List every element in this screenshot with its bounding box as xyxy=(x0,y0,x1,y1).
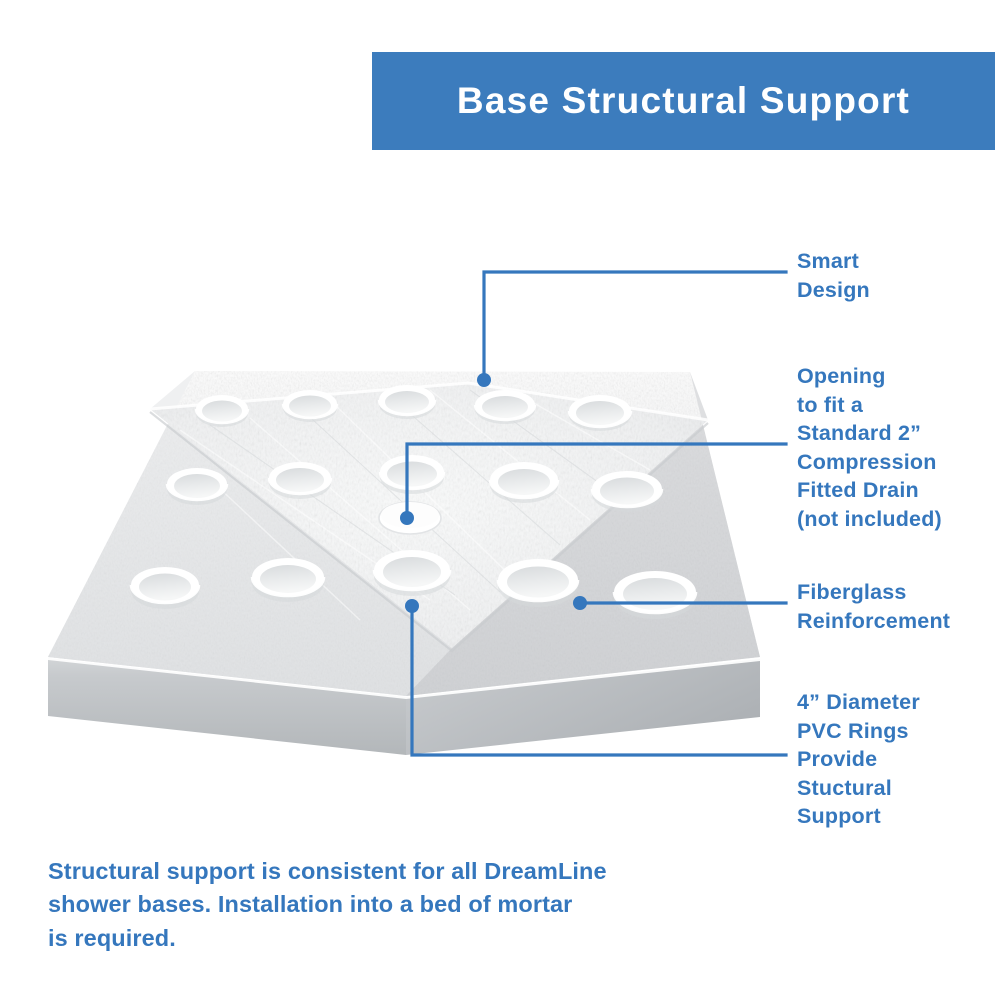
base-outer-rim-texture xyxy=(48,371,760,696)
base-rim-shadow-left xyxy=(48,371,452,696)
footer-note: Structural support is consistent for all… xyxy=(48,855,708,955)
base-rim-shadow-right xyxy=(406,372,760,696)
leader-line-smart-design xyxy=(484,272,786,380)
leader-line-pvc-rings xyxy=(412,606,786,755)
pvc-ring xyxy=(196,395,248,427)
pvc-ring xyxy=(379,385,435,419)
pvc-ring-group xyxy=(131,385,696,619)
pvc-ring xyxy=(167,468,227,505)
leader-line-drain-opening xyxy=(407,444,786,518)
base-inner-floor-texture xyxy=(150,383,708,648)
pvc-ring xyxy=(374,550,450,596)
fiberglass-streaks xyxy=(180,390,650,620)
pvc-ring xyxy=(131,567,199,609)
pvc-ring xyxy=(569,395,631,431)
callout-fiberglass: Fiberglass Reinforcement xyxy=(797,578,997,635)
leader-dot-drain-opening xyxy=(400,511,414,525)
pvc-ring xyxy=(252,558,324,602)
fiberglass-streaks-dark xyxy=(210,390,620,595)
callout-smart-design: Smart Design xyxy=(797,247,997,304)
pvc-ring xyxy=(475,390,535,424)
infographic-canvas: Base Structural Support xyxy=(0,0,1000,1000)
base-inner-bevel-shadow xyxy=(150,412,708,651)
leader-dots xyxy=(400,373,587,613)
pvc-ring xyxy=(283,390,337,422)
base-front-left-wall xyxy=(48,658,406,755)
callout-pvc-rings: 4” Diameter PVC Rings Provide Stuctural … xyxy=(797,688,997,831)
base-inner-floor xyxy=(150,383,708,648)
pvc-ring xyxy=(614,571,696,619)
header-bar: Base Structural Support xyxy=(372,52,995,150)
base-wall-highlight xyxy=(48,654,760,699)
page-title: Base Structural Support xyxy=(457,80,910,122)
leader-dot-fiberglass xyxy=(573,596,587,610)
pvc-ring xyxy=(490,462,558,503)
base-outer-rim-top xyxy=(48,371,760,696)
leader-dot-pvc-rings xyxy=(405,599,419,613)
callout-drain-opening: Opening to fit a Standard 2” Compression… xyxy=(797,362,1000,534)
shower-base-body xyxy=(48,371,760,755)
base-inner-bevel xyxy=(150,383,708,420)
leader-lines xyxy=(407,272,786,755)
pvc-ring xyxy=(592,471,662,512)
pvc-ring xyxy=(380,455,444,494)
drain-opening xyxy=(379,502,441,534)
leader-dot-smart-design xyxy=(477,373,491,387)
base-front-right-wall xyxy=(406,659,760,755)
pvc-ring xyxy=(498,559,578,607)
pvc-ring xyxy=(269,462,331,499)
